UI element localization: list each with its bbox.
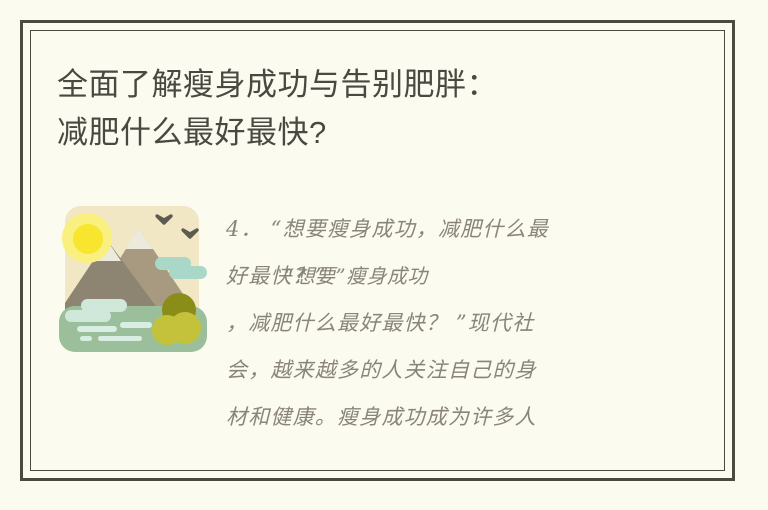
article-card: 全面了解瘦身成功与告别肥胖： 减肥什么最好最快? bbox=[0, 0, 768, 510]
article-body-row: 4． “想要瘦身成功，减肥什么最 好最快？” “想要”瘦身成功 ，减肥什么最好最… bbox=[30, 198, 725, 468]
article-title-line-1: 全面了解瘦身成功与告别肥胖： bbox=[57, 61, 697, 109]
body-line: 材和健康。瘦身成功成为许多人 bbox=[226, 394, 537, 441]
body-line: ，减肥什么最好最快？ ”现代社 bbox=[226, 300, 534, 347]
bush-light bbox=[169, 312, 201, 344]
wave-line bbox=[80, 336, 92, 341]
body-line-overlap: “想要”瘦身成功 bbox=[284, 253, 428, 300]
mountain-landscape-illustration bbox=[57, 200, 215, 358]
sun-core bbox=[73, 224, 103, 254]
body-line: 4． “想要瘦身成功，减肥什么最 bbox=[226, 206, 549, 253]
wave-line bbox=[98, 336, 142, 341]
card-content: 全面了解瘦身成功与告别肥胖： 减肥什么最好最快? bbox=[30, 30, 725, 471]
article-body-text: 4． “想要瘦身成功，减肥什么最 好最快？” “想要”瘦身成功 ，减肥什么最好最… bbox=[226, 198, 686, 468]
wave-line bbox=[120, 322, 152, 328]
landscape-illustration-svg bbox=[57, 200, 215, 358]
wave-line bbox=[77, 326, 117, 332]
article-title-line-2: 减肥什么最好最快? bbox=[57, 109, 327, 157]
body-line: 会，越来越多的人关注自己的身 bbox=[226, 347, 537, 394]
